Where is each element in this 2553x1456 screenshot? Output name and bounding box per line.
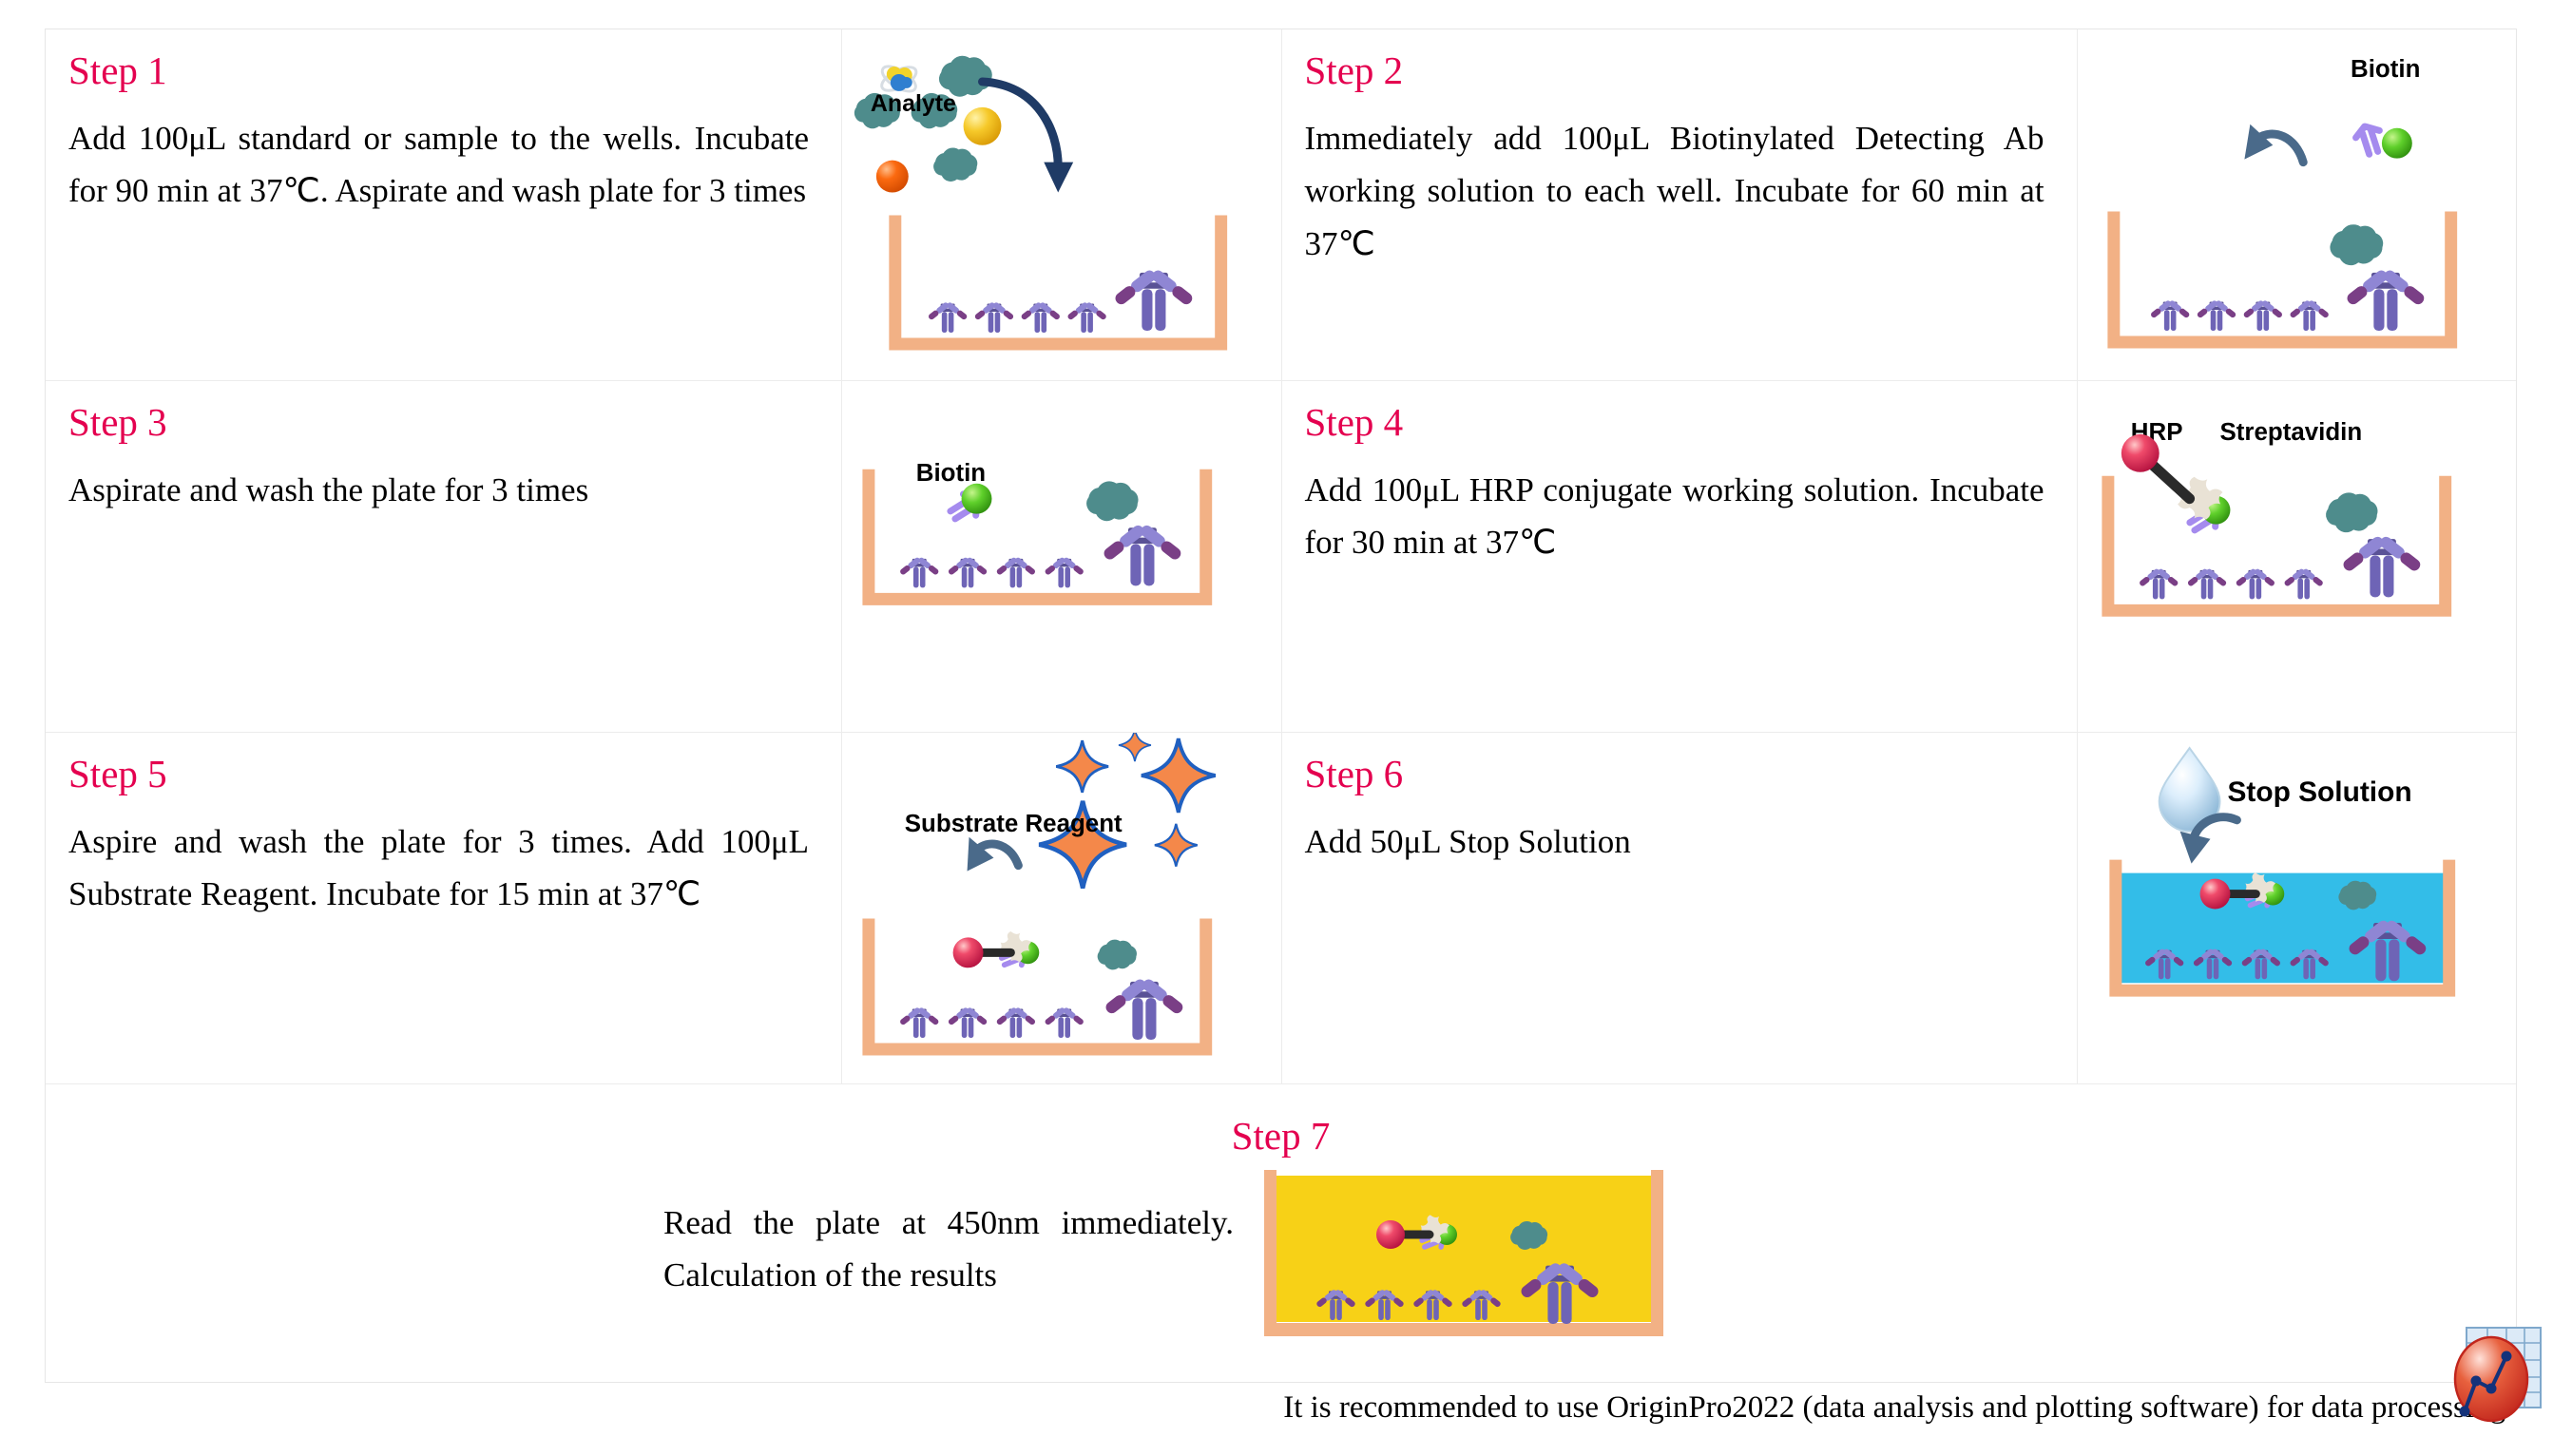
bound-analyte-blob-icon [2326, 492, 2377, 532]
hrp-ball-icon [953, 937, 984, 967]
streptavidin-label: Streptavidin [2219, 419, 2362, 446]
stop-solution-label: Stop Solution [2227, 776, 2411, 808]
step-7-illustration-cell [1264, 1162, 1663, 1343]
step-2-title: Step 2 [1305, 50, 2044, 91]
step-6-title: Step 6 [1305, 754, 2044, 795]
biotin-ball-icon [2381, 128, 2411, 159]
step-2-body: Immediately add 100μL Biotinylated Detec… [1305, 112, 2044, 270]
hrp-ball-icon [2199, 879, 2230, 910]
bound-analyte-blob-icon [2330, 224, 2383, 265]
step-1-illustration-cell: Analyte [841, 29, 1280, 380]
capture-antibody-row [899, 1006, 1085, 1038]
step-7-illustration [1264, 1162, 1663, 1343]
step-5-body: Aspire and wash the plate for 3 times. A… [68, 815, 809, 921]
step-7-title: Step 7 [46, 1113, 2516, 1159]
analyte-label: Analyte [871, 90, 956, 117]
biotin-label: Biotin [2351, 56, 2420, 83]
table-row: Step 7 Read the plate at 450nm immediate… [46, 1084, 2516, 1382]
capture-antibody-large [1113, 268, 1195, 331]
capture-antibody-row [2149, 299, 2329, 331]
step-5-text-cell: Step 5 Aspire and wash the plate for 3 t… [46, 733, 841, 1083]
step-3-title: Step 3 [68, 402, 809, 443]
footer-note: It is recommended to use OriginPro2022 (… [1283, 1390, 2505, 1426]
capture-antibody-row [2138, 567, 2323, 599]
analyte-sphere-orange-icon [876, 161, 909, 193]
down-arrow-icon [968, 837, 1019, 872]
step-2-illustration-cell: Biotin [2077, 29, 2516, 380]
table-row: Step 1 Add 100μL standard or sample to t… [46, 29, 2516, 381]
step-6-illustration: Stop Solution [2078, 733, 2516, 1083]
elisa-protocol-figure: Step 1 Add 100μL standard or sample to t… [0, 0, 2553, 1456]
substrate-reagent-label: Substrate Reagent [905, 811, 1123, 837]
step-3-illustration-cell: Biotin [841, 381, 1280, 732]
down-arrow-icon [2244, 125, 2303, 163]
capture-antibody-large [2345, 268, 2427, 331]
step-6-illustration-cell: Stop Solution [2077, 733, 2516, 1083]
footer: It is recommended to use OriginPro2022 (… [45, 1383, 2517, 1440]
biotin-ball-icon [962, 484, 992, 514]
bound-analyte-blob-icon [1086, 481, 1138, 521]
step-6-text-cell: Step 6 Add 50μL Stop Solution [1281, 733, 2077, 1083]
originpro-logo-icon [2449, 1326, 2544, 1425]
step-4-title: Step 4 [1305, 402, 2044, 443]
step-2-text-cell: Step 2 Immediately add 100μL Biotinylate… [1281, 29, 2077, 380]
biotin-label: Biotin [916, 460, 986, 487]
step-1-title: Step 1 [68, 50, 809, 91]
step-1-text-cell: Step 1 Add 100μL standard or sample to t… [46, 29, 841, 380]
step-4-illustration: HRP Streptavidin [2078, 381, 2516, 732]
capture-antibody-large [1102, 523, 1183, 585]
hrp-ball-icon [1376, 1220, 1405, 1249]
step-5-title: Step 5 [68, 754, 809, 795]
step-2-illustration: Biotin [2078, 29, 2516, 380]
step-7-body: Read the plate at 450nm immediately. Cal… [663, 1197, 1234, 1302]
step-3-body: Aspirate and wash the plate for 3 times [68, 464, 809, 516]
capture-antibody-large [2341, 534, 2423, 597]
table-row: Step 3 Aspirate and wash the plate for 3… [46, 381, 2516, 733]
step-1-body: Add 100μL standard or sample to the well… [68, 112, 809, 218]
capture-antibody-row [928, 301, 1107, 333]
analyte-sphere-yellow-icon [964, 107, 1002, 145]
step-4-illustration-cell: HRP Streptavidin [2077, 381, 2516, 732]
step-4-body: Add 100μL HRP conjugate working solution… [1305, 464, 2044, 569]
step-4-text-cell: Step 4 Add 100μL HRP conjugate working s… [1281, 381, 2077, 732]
step-3-text-cell: Step 3 Aspirate and wash the plate for 3… [46, 381, 841, 732]
hrp-ball-icon [2121, 434, 2159, 472]
step-6-body: Add 50μL Stop Solution [1305, 815, 2044, 868]
capture-antibody-large [1104, 977, 1185, 1040]
bound-analyte-blob-icon [1098, 940, 1137, 970]
step-5-illustration-cell: Substrate Reagent [841, 733, 1280, 1083]
table-row: Step 5 Aspire and wash the plate for 3 t… [46, 733, 2516, 1084]
protocol-steps-table: Step 1 Add 100μL standard or sample to t… [45, 29, 2517, 1383]
step-3-illustration: Biotin [842, 381, 1280, 732]
step-1-illustration: Analyte [842, 29, 1280, 380]
step-5-illustration: Substrate Reagent [842, 733, 1280, 1083]
capture-antibody-row [899, 557, 1085, 588]
